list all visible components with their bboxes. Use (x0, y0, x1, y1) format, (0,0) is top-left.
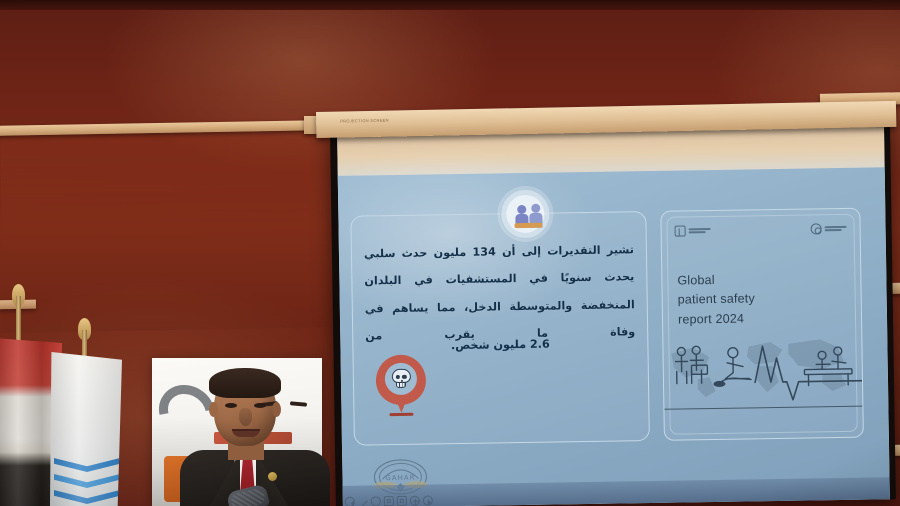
slide-text-card: تشير التقديرات إلى أن 134 مليون حدث سلبي… (350, 211, 650, 446)
previous-slide-icon[interactable] (345, 497, 355, 506)
powerpoint-slide: تشير التقديرات إلى أن 134 مليون حدث سلبي… (338, 167, 890, 506)
presenter-figure (176, 366, 332, 506)
ceiling-shadow (0, 0, 900, 10)
laser-pointer-icon[interactable] (371, 496, 381, 506)
screen-frame: تشير التقديرات إلى أن 134 مليون حدث سلبي… (330, 121, 896, 506)
hair (209, 368, 281, 398)
slide-grid-icon[interactable] (384, 496, 394, 506)
ear-left (209, 402, 218, 417)
world-health-organization-logo (811, 223, 847, 235)
wall-panel (0, 127, 333, 333)
report-cover-card: Global patient safety report 2024 (660, 208, 864, 441)
screen-surface: تشير التقديرات إلى أن 134 مليون حدث سلبي… (337, 127, 890, 506)
patient-safety-logo (675, 225, 711, 237)
slideshow-toolbar[interactable] (345, 495, 433, 506)
more-options-icon[interactable] (410, 496, 420, 506)
zoom-icon[interactable] (397, 496, 407, 506)
nose (239, 408, 252, 426)
eye-right (254, 403, 266, 408)
report-title-line-3: report 2024 (678, 308, 849, 330)
ear-right (272, 402, 281, 417)
healthcare-figures-ecg-icon (663, 337, 862, 412)
conference-photo-scene: PROJECTION SCREEN (0, 0, 900, 506)
projection-screen-assembly: PROJECTION SCREEN (316, 112, 896, 506)
lapel-pin (268, 472, 277, 481)
next-slide-icon[interactable] (423, 495, 433, 505)
organization-flag (50, 352, 122, 506)
pen-icon[interactable] (358, 496, 368, 506)
report-title-line-2: patient safety (678, 288, 849, 310)
eye-left (225, 403, 237, 408)
mouth (232, 429, 260, 437)
screen-casing-label: PROJECTION SCREEN (340, 118, 389, 125)
report-title: Global patient safety report 2024 (677, 269, 849, 330)
svg-text:GAHAR: GAHAR (385, 474, 415, 482)
skull-map-pin-icon (376, 354, 429, 417)
report-title-line-1: Global (677, 269, 848, 291)
report-cover-illustration (663, 335, 863, 440)
